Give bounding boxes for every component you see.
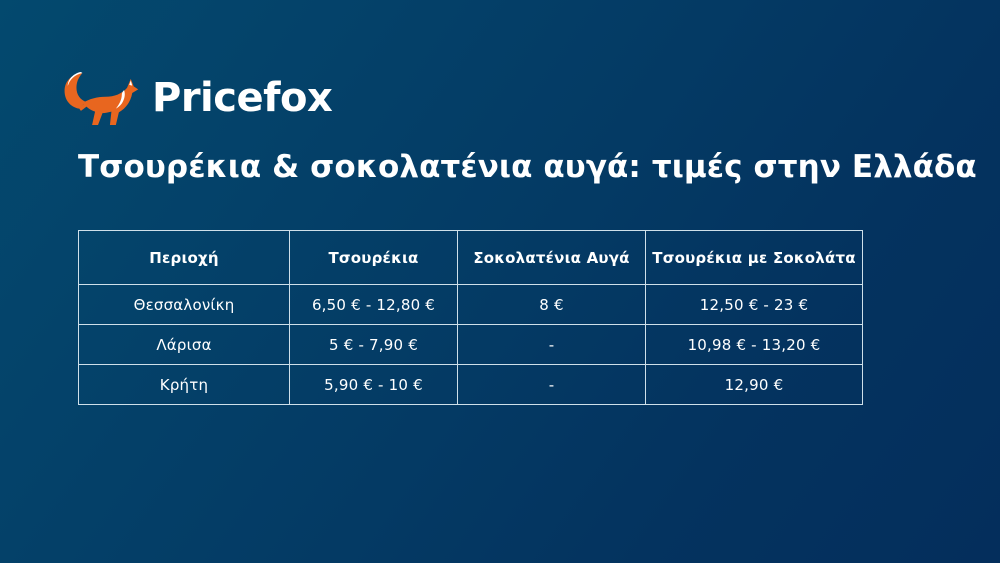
cell-tsourekia-chocolate: 10,98 € - 13,20 €	[646, 325, 863, 365]
column-header-tsourekia: Τσουρέκια	[290, 231, 458, 285]
slide-canvas: Pricefox Τσουρέκια & σοκολατένια αυγά: τ…	[0, 0, 1000, 563]
brand-logo[interactable]: Pricefox	[62, 68, 332, 130]
cell-chocolate-eggs: -	[458, 325, 646, 365]
page-title: Τσουρέκια & σοκολατένια αυγά: τιμές στην…	[78, 150, 938, 186]
cell-region: Λάρισα	[79, 325, 290, 365]
fox-icon	[62, 70, 140, 128]
cell-chocolate-eggs: 8 €	[458, 285, 646, 325]
column-header-chocolate-eggs: Σοκολατένια Αυγά	[458, 231, 646, 285]
cell-region: Θεσσαλονίκη	[79, 285, 290, 325]
cell-chocolate-eggs: -	[458, 365, 646, 405]
cell-tsourekia: 6,50 € - 12,80 €	[290, 285, 458, 325]
cell-tsourekia: 5,90 € - 10 €	[290, 365, 458, 405]
column-header-tsourekia-chocolate: Τσουρέκια με Σοκολάτα	[646, 231, 863, 285]
price-table: Περιοχή Τσουρέκια Σοκολατένια Αυγά Τσουρ…	[78, 230, 863, 405]
table-row: Λάρισα 5 € - 7,90 € - 10,98 € - 13,20 €	[79, 325, 863, 365]
table-row: Κρήτη 5,90 € - 10 € - 12,90 €	[79, 365, 863, 405]
brand-wordmark: Pricefox	[152, 78, 332, 120]
cell-region: Κρήτη	[79, 365, 290, 405]
cell-tsourekia-chocolate: 12,90 €	[646, 365, 863, 405]
cell-tsourekia: 5 € - 7,90 €	[290, 325, 458, 365]
table-header-row: Περιοχή Τσουρέκια Σοκολατένια Αυγά Τσουρ…	[79, 231, 863, 285]
price-table-container: Περιοχή Τσουρέκια Σοκολατένια Αυγά Τσουρ…	[78, 230, 862, 405]
column-header-region: Περιοχή	[79, 231, 290, 285]
table-row: Θεσσαλονίκη 6,50 € - 12,80 € 8 € 12,50 €…	[79, 285, 863, 325]
cell-tsourekia-chocolate: 12,50 € - 23 €	[646, 285, 863, 325]
